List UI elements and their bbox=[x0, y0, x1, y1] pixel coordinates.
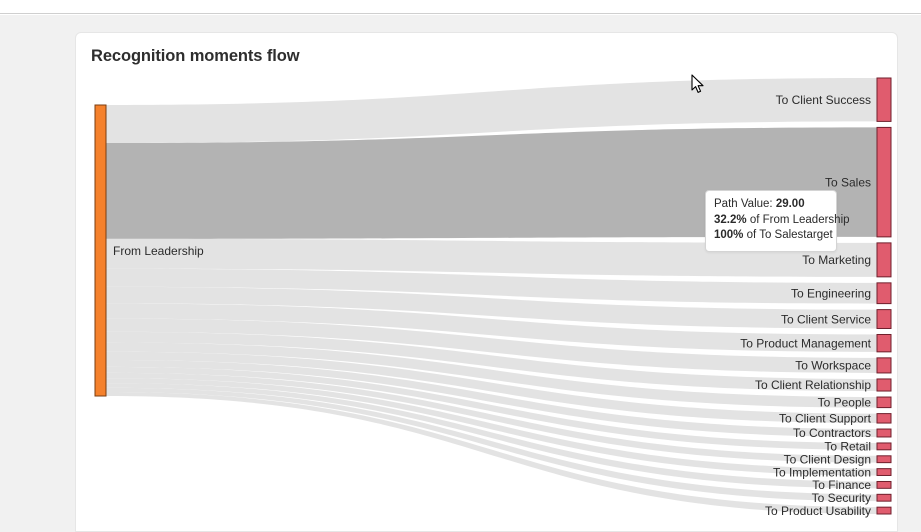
tooltip-source-row: 32.2% of From Leadership bbox=[714, 213, 828, 229]
tooltip-path-value: 29.00 bbox=[776, 198, 805, 210]
tooltip-path-value-row: Path Value: 29.00 bbox=[714, 197, 828, 213]
path-tooltip: Path Value: 29.00 32.2% of From Leadersh… bbox=[705, 190, 837, 252]
mouse-cursor-icon bbox=[691, 74, 705, 94]
browser-top-bar bbox=[0, 0, 921, 14]
app-root: Recognition moments flow From Leadership… bbox=[0, 0, 921, 532]
tooltip-target-percent-suffix: of To Salestarget bbox=[747, 229, 833, 241]
tooltip-target-percent: 100% bbox=[714, 229, 743, 241]
tooltip-source-percent-suffix: of From Leadership bbox=[750, 214, 850, 226]
tooltip-target-row: 100% of To Salestarget bbox=[714, 228, 828, 244]
tooltip-source-percent: 32.2% bbox=[714, 214, 747, 226]
tooltip-path-value-label: Path Value: bbox=[714, 198, 773, 210]
page-title: Recognition moments flow bbox=[91, 47, 299, 66]
chart-card: Recognition moments flow bbox=[75, 32, 898, 532]
